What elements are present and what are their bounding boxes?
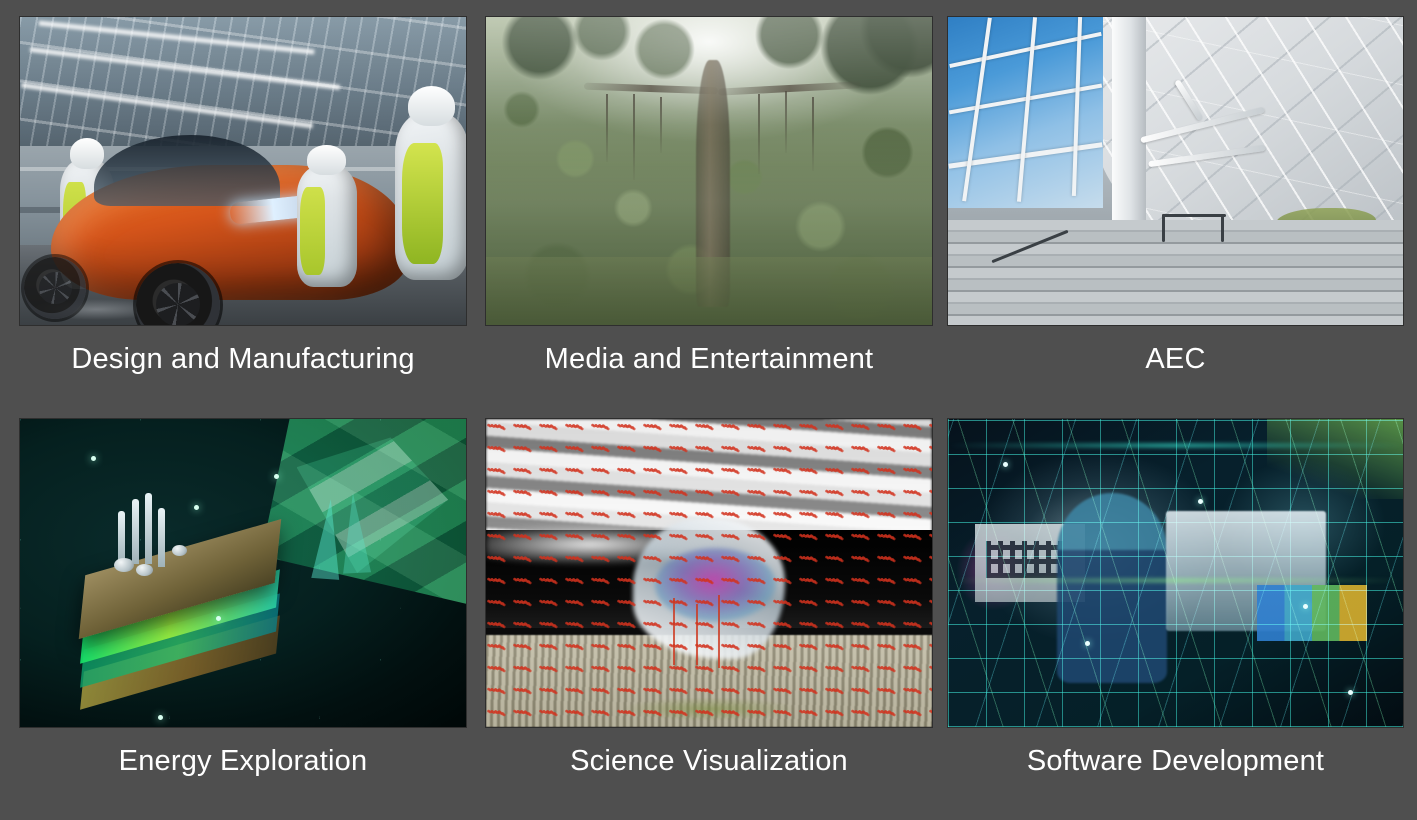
data-spike	[339, 492, 371, 573]
streamline-thread	[696, 604, 698, 666]
storage-tank	[172, 545, 187, 556]
card-caption-media-and-entertainment: Media and Entertainment	[545, 339, 874, 379]
thumbnail-aec[interactable]	[948, 17, 1403, 325]
image-energy-exploration	[20, 419, 466, 727]
streamline-thread	[718, 595, 720, 669]
image-media-and-entertainment	[486, 17, 932, 325]
refinery-stack	[145, 493, 152, 564]
industry-card-grid: Design and Manufacturing	[0, 0, 1417, 820]
industry-card-media-and-entertainment[interactable]: Media and Entertainment	[486, 17, 932, 419]
card-caption-software-development: Software Development	[1027, 741, 1324, 781]
image-design-and-manufacturing	[20, 17, 466, 325]
staircase	[948, 220, 1403, 325]
car-wheel	[24, 257, 86, 319]
storage-tank	[136, 564, 153, 576]
network-node	[158, 715, 163, 720]
glow-line	[948, 579, 1403, 582]
handrail-post	[1162, 214, 1165, 242]
streamline-particles	[486, 419, 932, 727]
handrail	[1162, 214, 1226, 217]
thumbnail-science-visualization[interactable]	[486, 419, 932, 727]
card-caption-design-and-manufacturing: Design and Manufacturing	[71, 339, 414, 379]
robot-figure	[297, 165, 357, 287]
handrail-post	[1221, 214, 1224, 242]
grid-node	[1085, 641, 1090, 646]
industry-grid-page: Design and Manufacturing	[0, 0, 1417, 820]
refinery-stack	[118, 511, 125, 563]
industry-card-science-visualization[interactable]: Science Visualization	[486, 419, 932, 819]
industry-card-aec[interactable]: AEC	[948, 17, 1403, 419]
glow-line	[948, 444, 1403, 447]
card-caption-energy-exploration: Energy Exploration	[119, 741, 368, 781]
thumbnail-software-development[interactable]	[948, 419, 1403, 727]
thumbnail-design-and-manufacturing[interactable]	[20, 17, 466, 325]
thumbnail-energy-exploration[interactable]	[20, 419, 466, 727]
industry-card-energy-exploration[interactable]: Energy Exploration	[20, 419, 466, 819]
card-caption-science-visualization: Science Visualization	[570, 741, 848, 781]
streamline-thread	[673, 598, 675, 666]
industry-card-design-and-manufacturing[interactable]: Design and Manufacturing	[20, 17, 466, 419]
wireframe-overlay	[948, 419, 1403, 727]
industry-card-software-development[interactable]: Software Development	[948, 419, 1403, 819]
refinery-stack	[158, 508, 165, 567]
grid-node	[1003, 462, 1008, 467]
image-science-visualization	[486, 419, 932, 727]
grid-node	[1303, 604, 1308, 609]
structural-column	[1112, 17, 1146, 239]
card-caption-aec: AEC	[1145, 339, 1205, 379]
robot-figure	[395, 112, 466, 280]
storage-tank	[114, 558, 134, 572]
image-aec	[948, 17, 1403, 325]
thumbnail-media-and-entertainment[interactable]	[486, 17, 932, 325]
refinery-stack	[132, 499, 139, 564]
atmospheric-haze	[486, 17, 932, 325]
image-software-development	[948, 419, 1403, 727]
